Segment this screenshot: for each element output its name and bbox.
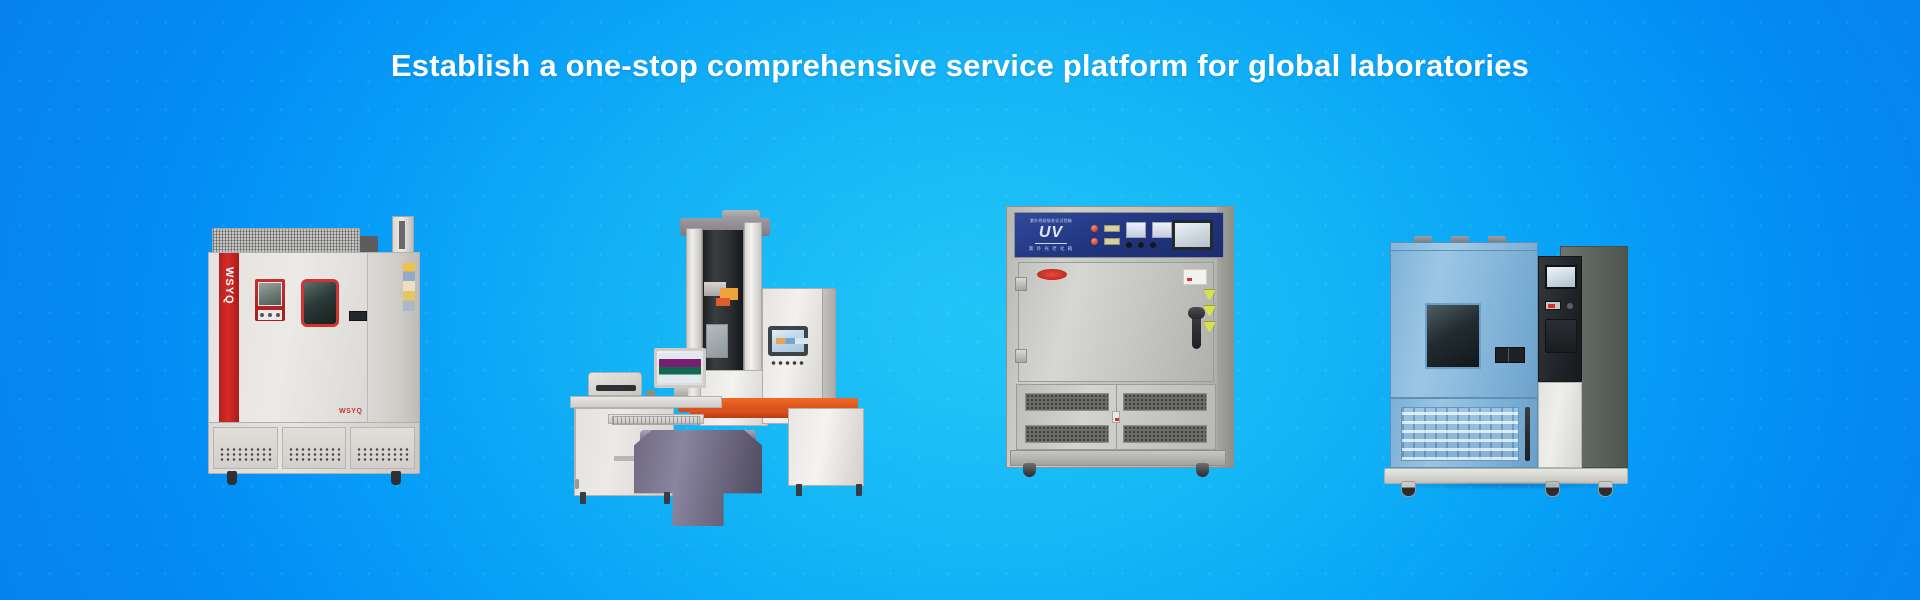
chamber-body: WSYQ WSYQ xyxy=(208,252,420,424)
chamber-front-white-panel xyxy=(1538,382,1582,468)
chamber-door xyxy=(1018,262,1214,382)
brand-stripe: WSYQ xyxy=(219,253,239,423)
monitor-screen-chart xyxy=(659,353,701,383)
warning-label xyxy=(1203,321,1216,333)
chamber-right-wall xyxy=(367,253,419,423)
uv-control-panel: 紫外线耐候老化试验箱 UV 紫 外 光 老 化 箱 xyxy=(1014,212,1224,258)
door-hinge xyxy=(1015,349,1027,363)
controller-display-screen xyxy=(1545,265,1577,289)
mesh-vent xyxy=(1123,425,1207,443)
analog-meter xyxy=(1152,222,1172,238)
printer-paper-slot xyxy=(596,385,636,391)
banner-headline: Establish a one-stop comprehensive servi… xyxy=(0,48,1920,84)
control-panel-screen xyxy=(258,282,282,306)
door-hinge xyxy=(1015,277,1027,291)
specimen-fixture xyxy=(716,298,730,306)
cabinet-power-switch xyxy=(1112,411,1120,423)
control-button-row xyxy=(770,360,806,366)
indicator-lamp xyxy=(1091,225,1098,232)
screen-graph xyxy=(776,338,808,344)
chamber-lower-panel xyxy=(1390,398,1538,468)
mesh-vent xyxy=(1025,425,1109,443)
panel-key xyxy=(260,313,264,317)
panel-switch xyxy=(1104,225,1120,232)
controller-button xyxy=(1567,303,1573,309)
desk-leg xyxy=(664,492,670,504)
desk-leg xyxy=(580,492,586,504)
control-knob xyxy=(1150,242,1156,248)
monitor-stand xyxy=(674,388,688,396)
printer xyxy=(588,372,642,396)
floor-pedestal xyxy=(634,430,762,526)
door-spec-sticker xyxy=(1183,269,1207,285)
mesh-vent xyxy=(1025,393,1109,411)
warning-label xyxy=(1203,305,1216,317)
door-vent-box xyxy=(1495,347,1525,363)
control-knob xyxy=(1138,242,1144,248)
base-vent-panel xyxy=(213,427,278,469)
mesh-vent xyxy=(1123,393,1207,411)
chamber-plinth xyxy=(1010,450,1226,466)
computer-monitor xyxy=(654,348,706,388)
chimney-slot xyxy=(399,221,405,249)
uv-logo-text: UV xyxy=(1035,224,1067,244)
uv-brand-bottom-text: 紫 外 光 老 化 箱 xyxy=(1015,246,1087,252)
indicator-lamp-group xyxy=(1091,225,1098,245)
door-handle xyxy=(1192,315,1201,349)
switch-group xyxy=(1104,225,1120,245)
warning-label xyxy=(1203,289,1216,301)
product-image-uv-weathering-tester: 紫外线耐候老化试验箱 UV 紫 外 光 老 化 箱 xyxy=(1006,206,1246,486)
caster-wheel xyxy=(1023,463,1036,477)
analog-meter-group xyxy=(1126,222,1172,238)
control-panel xyxy=(255,279,285,321)
ground-shadow xyxy=(1390,482,1626,490)
lower-door-handle xyxy=(1525,407,1530,461)
controller-indicator xyxy=(1545,301,1561,310)
frame-access-door xyxy=(706,324,728,358)
panel-key xyxy=(276,313,280,317)
caster-wheel xyxy=(1196,463,1209,477)
control-panel-keys xyxy=(258,310,282,320)
uv-panel-controls xyxy=(1087,222,1172,248)
cabinet-foot xyxy=(856,484,862,496)
desk-door-handle xyxy=(575,479,579,489)
brand-stripe-text: WSYQ xyxy=(223,267,235,305)
side-panel-seam xyxy=(1595,247,1596,467)
control-touch-screen xyxy=(768,326,808,356)
chamber-lower-cabinet xyxy=(1016,384,1216,450)
warning-label-column xyxy=(1203,289,1217,333)
control-knob xyxy=(1126,242,1132,248)
control-column xyxy=(1538,256,1582,382)
louvered-vent-grille xyxy=(1401,407,1519,461)
door-brand-badge xyxy=(1037,269,1067,280)
chamber-side-vent-box xyxy=(349,311,367,321)
warning-label-strip xyxy=(403,263,415,311)
door-handle-knob xyxy=(1188,307,1205,319)
panel-switch xyxy=(1104,238,1120,245)
chamber-front-door xyxy=(1390,250,1538,398)
analog-meter xyxy=(1126,222,1146,238)
desk-door-seam xyxy=(575,409,576,479)
computer-desk-top xyxy=(570,396,722,408)
base-vent-panel xyxy=(350,427,415,469)
panel-key xyxy=(268,313,272,317)
base-vent-panel xyxy=(282,427,347,469)
meter-and-knob-block xyxy=(1126,222,1172,248)
product-image-universal-testing-machine xyxy=(570,204,870,504)
hydraulic-power-cabinet xyxy=(788,408,864,486)
computer-mouse xyxy=(646,390,656,396)
uv-panel-brand: 紫外线耐候老化试验箱 UV 紫 外 光 老 化 箱 xyxy=(1015,218,1087,252)
chamber-viewing-window xyxy=(301,279,339,327)
chamber-logo: WSYQ xyxy=(339,408,362,415)
caster-wheel xyxy=(227,471,237,485)
top-vent-grille xyxy=(212,228,360,254)
product-image-temperature-humidity-chamber xyxy=(1384,236,1644,498)
base-vent-panel-group xyxy=(213,427,415,469)
uv-brand-top-text: 紫外线耐候老化试验箱 xyxy=(1015,218,1087,224)
hero-banner: Establish a one-stop comprehensive servi… xyxy=(0,0,1920,600)
chamber-base-cabinet xyxy=(208,422,420,474)
keyboard xyxy=(612,416,700,425)
knob-group xyxy=(1126,242,1172,248)
chamber-viewing-window xyxy=(1425,303,1481,369)
cabinet-foot xyxy=(796,484,802,496)
uv-display-screen xyxy=(1172,220,1213,250)
caster-wheel xyxy=(391,471,401,485)
controller-lower-grille xyxy=(1545,319,1577,353)
indicator-lamp xyxy=(1091,238,1098,245)
product-image-environmental-test-chamber: WSYQ WSYQ xyxy=(196,216,424,484)
